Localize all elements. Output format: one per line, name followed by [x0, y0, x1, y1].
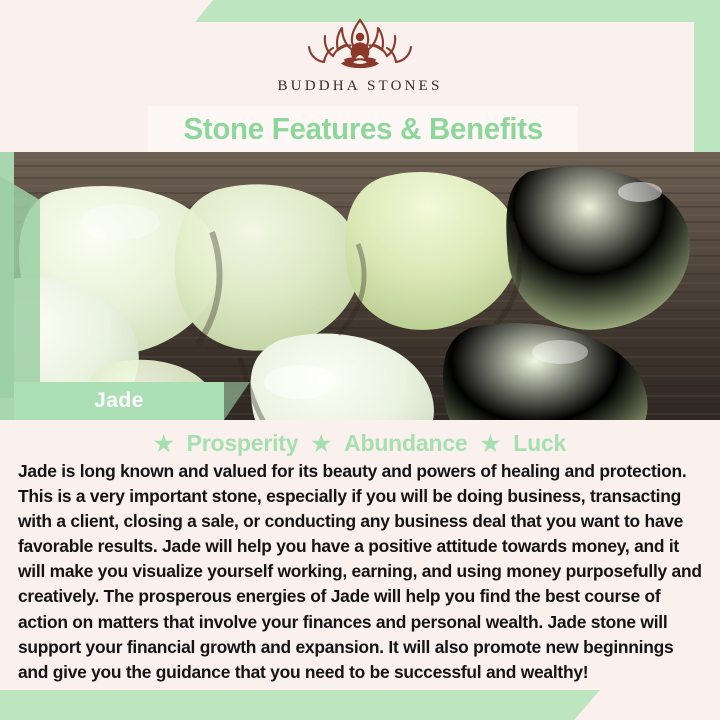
benefits-row: ★ Prosperity ★ Abundance ★ Luck: [0, 430, 720, 457]
infographic-page: BUDDHA STONES Stone Features & Benefits: [0, 0, 720, 720]
stone-name: Jade: [14, 382, 224, 420]
benefit-prosperity: Prosperity: [187, 430, 299, 457]
jade-tumbled-stones-photo: [0, 152, 720, 420]
lotus-meditation-icon: [298, 14, 422, 76]
title-banner: Stone Features & Benefits: [148, 106, 578, 152]
stone-description: Jade is long known and valued for its be…: [18, 459, 708, 685]
benefit-luck: Luck: [513, 430, 566, 457]
star-icon-2: ★: [311, 433, 331, 455]
page-title: Stone Features & Benefits: [183, 111, 542, 147]
decorative-stripe-left-inner: [0, 176, 40, 398]
benefit-abundance: Abundance: [344, 430, 467, 457]
photo-canvas: [0, 152, 720, 420]
decorative-band-bottom-left: [0, 690, 600, 720]
brand-logo: BUDDHA STONES: [0, 14, 720, 106]
brand-name: BUDDHA STONES: [277, 78, 442, 95]
star-icon-3: ★: [481, 433, 501, 455]
star-icon-1: ★: [154, 433, 174, 455]
